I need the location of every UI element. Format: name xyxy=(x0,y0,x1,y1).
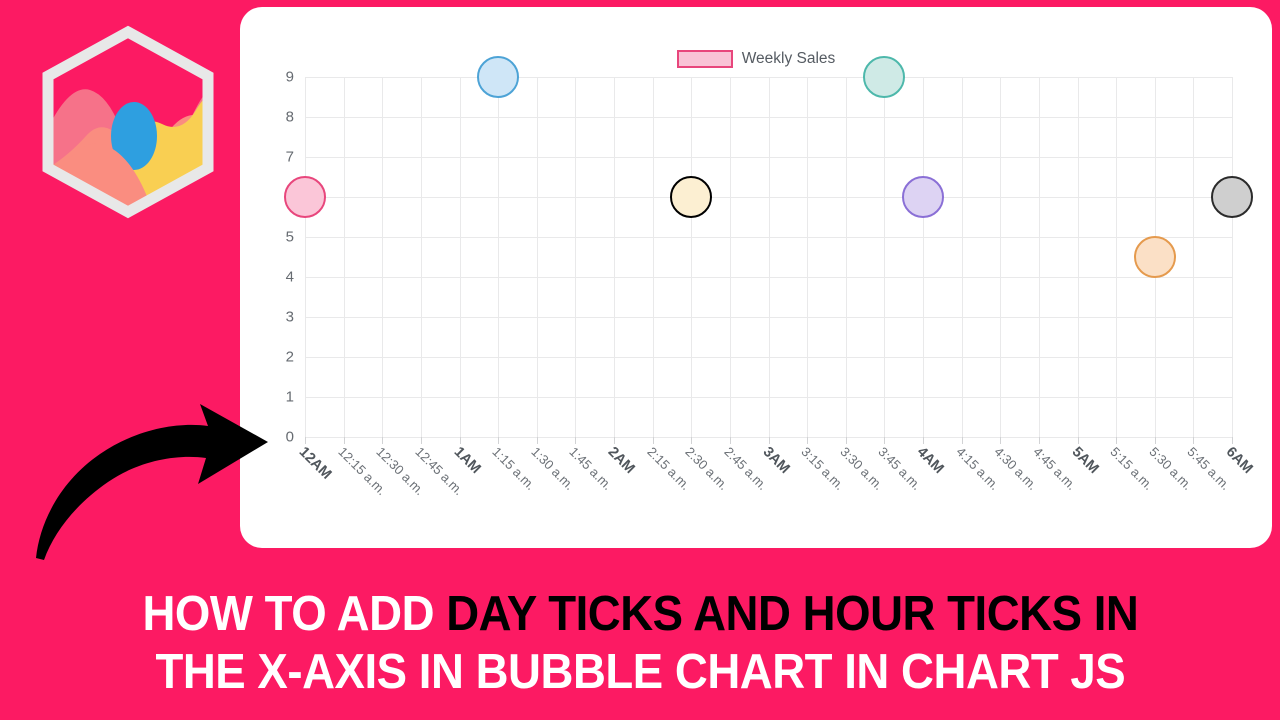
x-axis-tick-mark xyxy=(1155,437,1156,444)
video-title-banner: HOW TO ADD DAY TICKS AND HOUR TICKS IN T… xyxy=(0,566,1280,720)
gridline-vertical xyxy=(884,77,885,437)
gridline-vertical xyxy=(305,77,306,437)
logo-svg xyxy=(28,18,228,228)
gridline-vertical xyxy=(421,77,422,437)
gridline-vertical xyxy=(498,77,499,437)
title-part-white-1: HOW TO ADD xyxy=(142,587,446,641)
gridline-vertical xyxy=(923,77,924,437)
bubble-point[interactable] xyxy=(477,56,519,98)
gridline-vertical xyxy=(575,77,576,437)
title-line-2: THE X-AXIS IN BUBBLE CHART IN CHART JS xyxy=(155,644,1125,700)
x-axis-hour-tick-label: 1AM xyxy=(450,444,483,477)
gridline-vertical xyxy=(1116,77,1117,437)
legend-swatch-weekly-sales xyxy=(677,50,733,68)
x-axis-tick-mark xyxy=(769,437,770,444)
x-axis-tick-mark xyxy=(421,437,422,444)
x-axis-tick-mark xyxy=(614,437,615,444)
app-logo xyxy=(28,18,228,228)
x-axis-tick-mark xyxy=(344,437,345,444)
gridline-vertical xyxy=(1039,77,1040,437)
y-axis-tick-label: 9 xyxy=(286,69,294,86)
x-axis-hour-tick-label: 2AM xyxy=(605,444,638,477)
curved-arrow xyxy=(22,392,274,564)
y-axis-tick-label: 1 xyxy=(286,389,294,406)
bubble-point[interactable] xyxy=(902,176,944,218)
title-line-1: HOW TO ADD DAY TICKS AND HOUR TICKS IN xyxy=(142,586,1138,642)
x-axis-tick-mark xyxy=(1039,437,1040,444)
arrow-svg xyxy=(22,392,274,564)
y-axis-tick-label: 2 xyxy=(286,349,294,366)
x-axis-hour-tick-label: 12AM xyxy=(296,444,335,483)
gridline-vertical xyxy=(691,77,692,437)
chart-card: Weekly Sales 0123456789 12AM12:15 a.m.12… xyxy=(240,7,1272,548)
gridline-vertical xyxy=(1232,77,1233,437)
x-axis-tick-mark xyxy=(730,437,731,444)
x-axis-hour-tick-label: 6AM xyxy=(1223,444,1256,477)
x-axis-tick-mark xyxy=(1232,437,1233,444)
gridline-vertical xyxy=(807,77,808,437)
x-axis-hour-tick-label: 5AM xyxy=(1068,444,1101,477)
x-axis-tick-mark xyxy=(846,437,847,444)
gridline-vertical xyxy=(1000,77,1001,437)
x-axis-tick-mark xyxy=(498,437,499,444)
y-axis-tick-label: 4 xyxy=(286,269,294,286)
y-axis-tick-label: 5 xyxy=(286,229,294,246)
x-axis-tick-mark xyxy=(962,437,963,444)
gridline-vertical xyxy=(846,77,847,437)
gridline-vertical xyxy=(653,77,654,437)
bubble-point[interactable] xyxy=(1134,236,1176,278)
x-axis-tick-mark xyxy=(460,437,461,444)
x-axis-tick-mark xyxy=(653,437,654,444)
y-axis-tick-label: 3 xyxy=(286,309,294,326)
arrow-shape xyxy=(36,404,268,560)
bubble-point[interactable] xyxy=(670,176,712,218)
chart-legend[interactable]: Weekly Sales xyxy=(240,50,1272,68)
bubble-point[interactable] xyxy=(284,176,326,218)
gridline-vertical xyxy=(344,77,345,437)
title-part-black: DAY TICKS AND HOUR TICKS IN xyxy=(446,587,1138,641)
y-axis-tick-label: 0 xyxy=(286,429,294,446)
gridline-vertical xyxy=(537,77,538,437)
gridline-vertical xyxy=(962,77,963,437)
gridline-vertical xyxy=(382,77,383,437)
x-axis-tick-mark xyxy=(923,437,924,444)
gridline-vertical xyxy=(730,77,731,437)
x-axis-hour-tick-label: 3AM xyxy=(759,444,792,477)
bubble-point[interactable] xyxy=(863,56,905,98)
x-axis-tick-mark xyxy=(1078,437,1079,444)
y-axis-tick-label: 8 xyxy=(286,109,294,126)
gridline-vertical xyxy=(1193,77,1194,437)
x-axis-tick-mark xyxy=(807,437,808,444)
x-axis-tick-mark xyxy=(537,437,538,444)
plot-area: 0123456789 xyxy=(305,77,1232,437)
gridline-vertical xyxy=(769,77,770,437)
gridline-vertical xyxy=(460,77,461,437)
gridline-vertical xyxy=(614,77,615,437)
bubble-point[interactable] xyxy=(1211,176,1253,218)
gridline-vertical xyxy=(1078,77,1079,437)
x-axis-tick-mark xyxy=(305,437,306,444)
x-axis-tick-mark xyxy=(1116,437,1117,444)
legend-label-weekly-sales: Weekly Sales xyxy=(742,50,836,68)
x-axis-labels: 12AM12:15 a.m.12:30 a.m.12:45 a.m.1AM1:1… xyxy=(305,444,1232,544)
y-axis-tick-label: 7 xyxy=(286,149,294,166)
x-axis-hour-tick-label: 4AM xyxy=(914,444,947,477)
